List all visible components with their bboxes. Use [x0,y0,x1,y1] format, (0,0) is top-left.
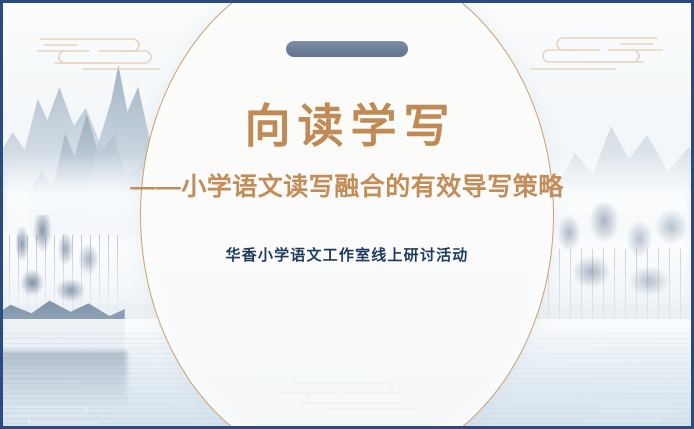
presentation-slide: 向读学写 ——小学语文读写融合的有效导写策略 华香小学语文工作室线上研讨活动 [0,0,694,429]
shore-reflection-left [0,351,127,409]
main-title: 向读学写 [3,101,691,152]
title-block: 向读学写 ——小学语文读写融合的有效导写策略 华香小学语文工作室线上研讨活动 [3,101,691,265]
subtitle: ——小学语文读写融合的有效导写策略 [3,172,691,202]
accent-bar [286,41,408,57]
event-subtitle: 华香小学语文工作室线上研讨活动 [3,244,691,265]
